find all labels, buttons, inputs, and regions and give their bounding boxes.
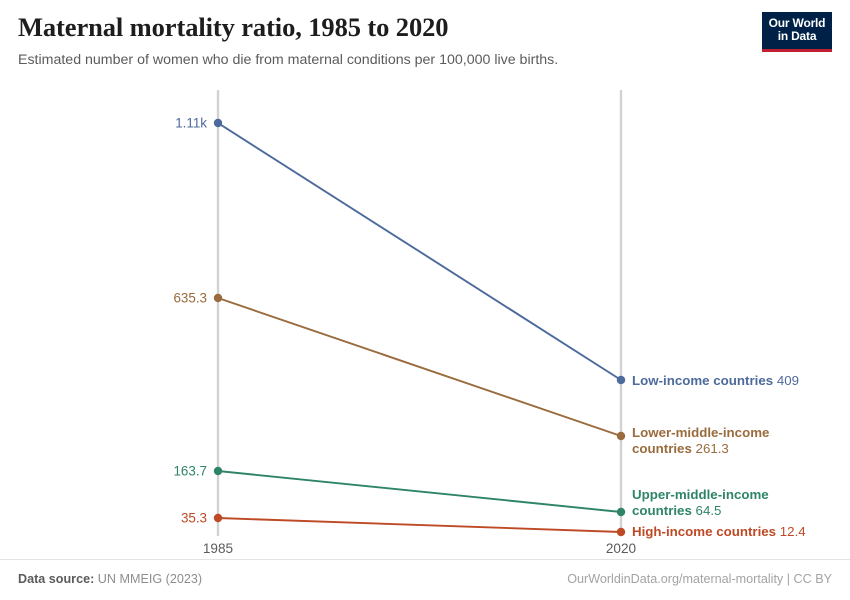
series-end-value: 12.4 <box>776 524 806 539</box>
series-line[interactable] <box>218 123 621 380</box>
x-axis-tick-labels: 19852020 <box>203 541 637 556</box>
owid-slope-chart: Maternal mortality ratio, 1985 to 2020 E… <box>0 0 850 600</box>
page-title: Maternal mortality ratio, 1985 to 2020 <box>18 12 738 44</box>
start-value-label: 1.11k <box>175 116 207 131</box>
series-line[interactable] <box>218 298 621 436</box>
series-end-label[interactable]: Upper-middle-income <box>632 487 769 502</box>
series-points <box>214 119 625 536</box>
data-source-value: UN MMEIG (2023) <box>98 572 202 586</box>
x-tick-start: 1985 <box>203 541 233 556</box>
attribution-link[interactable]: OurWorldinData.org/maternal-mortality | … <box>567 572 832 586</box>
series-end-label[interactable]: Low-income countries 409 <box>632 373 799 388</box>
plot-area: 1.11k635.3163.735.3 Low-income countries… <box>0 80 850 558</box>
axis-lines <box>218 90 621 536</box>
chart-subtitle: Estimated number of women who die from m… <box>18 51 738 69</box>
data-source: Data source: UN MMEIG (2023) <box>18 572 202 586</box>
series-end-value: 261.3 <box>692 441 729 456</box>
chart-header: Maternal mortality ratio, 1985 to 2020 E… <box>18 12 738 69</box>
series-end-label[interactable]: Lower-middle-income <box>632 425 769 440</box>
data-point[interactable] <box>214 119 222 127</box>
data-point[interactable] <box>214 467 222 475</box>
series-line[interactable] <box>218 471 621 512</box>
x-tick-end: 2020 <box>606 541 637 556</box>
logo-line-1: Our World <box>762 17 832 30</box>
data-point[interactable] <box>214 294 222 302</box>
series-end-label[interactable]: countries 261.3 <box>632 441 729 456</box>
start-value-label: 35.3 <box>181 511 207 526</box>
slope-chart-svg: 1.11k635.3163.735.3 Low-income countries… <box>0 80 850 558</box>
data-point[interactable] <box>617 432 625 440</box>
data-source-label: Data source: <box>18 572 94 586</box>
series-end-value: 409 <box>773 373 799 388</box>
series-lines <box>218 123 621 532</box>
series-end-label[interactable]: High-income countries 12.4 <box>632 524 806 539</box>
start-value-label: 635.3 <box>173 291 207 306</box>
data-point[interactable] <box>617 528 625 536</box>
end-series-labels: Low-income countries 409Lower-middle-inc… <box>632 373 806 539</box>
logo-line-2: in Data <box>762 30 832 43</box>
data-point[interactable] <box>617 508 625 516</box>
series-line[interactable] <box>218 518 621 532</box>
series-end-value: 64.5 <box>692 503 722 518</box>
series-end-label[interactable]: countries 64.5 <box>632 503 721 518</box>
our-world-in-data-logo[interactable]: Our World in Data <box>762 12 832 52</box>
chart-footer: Data source: UN MMEIG (2023) OurWorldinD… <box>0 559 850 600</box>
data-point[interactable] <box>214 514 222 522</box>
data-point[interactable] <box>617 376 625 384</box>
start-value-label: 163.7 <box>173 464 207 479</box>
start-value-labels: 1.11k635.3163.735.3 <box>173 116 207 526</box>
